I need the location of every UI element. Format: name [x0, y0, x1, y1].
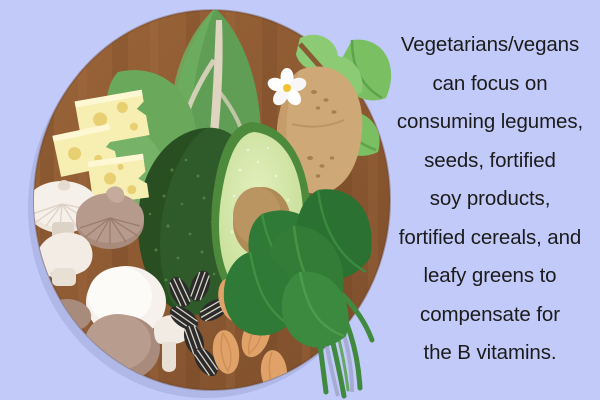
- infographic-canvas: Vegetarians/vegans can focus on consumin…: [0, 0, 600, 400]
- caption-text: Vegetarians/vegans can focus on consumin…: [384, 26, 596, 374]
- caption-line: compensate for: [420, 296, 560, 335]
- caption-line: leafy greens to: [424, 257, 557, 296]
- caption-line: soy products,: [430, 180, 551, 219]
- caption-line: fortified cereals, and: [399, 219, 581, 258]
- caption-line: seeds, fortified: [424, 142, 556, 181]
- caption-line: can focus on: [432, 65, 547, 104]
- caption-line: the B vitamins.: [424, 334, 557, 373]
- caption-line: Vegetarians/vegans: [401, 26, 579, 65]
- caption-line: consuming legumes,: [397, 103, 583, 142]
